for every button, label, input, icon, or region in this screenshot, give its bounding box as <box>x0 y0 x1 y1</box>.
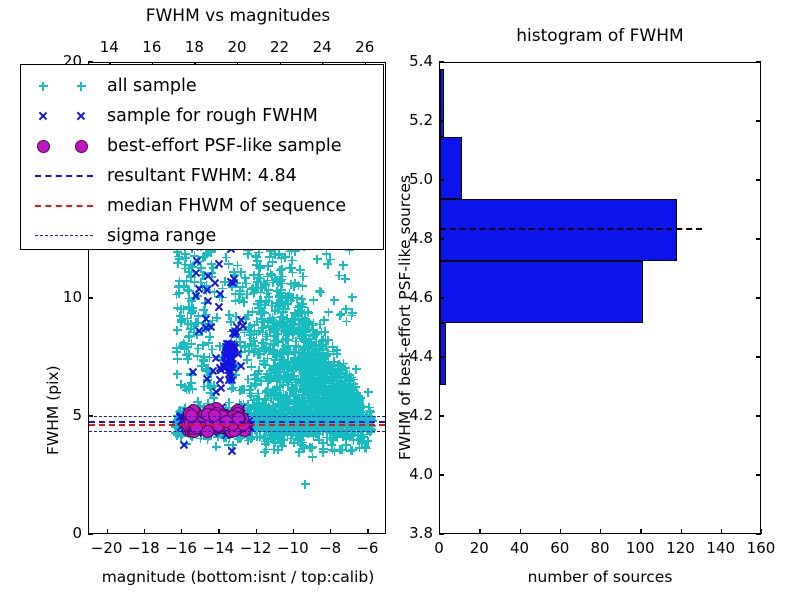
scatter-marker <box>288 256 297 265</box>
scatter-marker <box>348 293 357 302</box>
scatter-marker <box>320 410 329 419</box>
scatter-marker <box>203 271 212 280</box>
scatter-marker <box>275 292 284 301</box>
scatter-marker <box>285 363 294 372</box>
scatter-marker <box>312 395 321 404</box>
scatter-marker <box>305 407 314 416</box>
scatter-marker <box>295 405 304 414</box>
tick-label: 22 <box>264 40 296 55</box>
scatter-marker <box>269 392 278 401</box>
scatter-marker <box>300 360 309 369</box>
legend-item[interactable]: sigma range <box>21 221 383 251</box>
scatter-marker <box>225 348 234 357</box>
scatter-marker <box>259 433 268 442</box>
scatter-marker <box>180 344 189 353</box>
scatter-marker <box>337 410 346 419</box>
scatter-marker <box>281 342 290 351</box>
scatter-marker <box>324 392 333 401</box>
scatter-marker <box>258 307 267 316</box>
scatter-marker <box>191 407 200 416</box>
scatter-marker <box>244 310 253 319</box>
scatter-marker <box>279 314 288 323</box>
scatter-marker <box>181 250 190 259</box>
scatter-marker <box>261 440 270 449</box>
scatter-marker <box>328 405 337 414</box>
scatter-marker <box>333 406 342 415</box>
scatter-marker <box>302 342 311 351</box>
scatter-marker <box>272 390 281 399</box>
scatter-marker <box>238 385 247 394</box>
scatter-marker <box>298 375 307 384</box>
scatter-marker <box>305 339 314 348</box>
scatter-marker <box>198 283 207 292</box>
scatter-marker <box>235 286 244 295</box>
scatter-marker <box>356 430 365 439</box>
scatter-marker <box>185 350 194 359</box>
scatter-marker <box>246 410 255 419</box>
scatter-marker <box>304 385 313 394</box>
scatter-marker <box>306 396 315 405</box>
scatter-marker <box>311 425 320 434</box>
histogram-bar[interactable] <box>440 323 446 385</box>
scatter-marker <box>306 381 315 390</box>
scatter-marker <box>310 367 319 376</box>
scatter-marker <box>316 402 325 411</box>
scatter-marker <box>298 405 307 414</box>
scatter-marker <box>251 345 260 354</box>
scatter-marker <box>284 359 293 368</box>
histogram-bar[interactable] <box>440 137 462 199</box>
scatter-marker <box>260 395 269 404</box>
scatter-marker <box>276 374 285 383</box>
scatter-marker <box>337 405 346 414</box>
scatter-marker <box>228 363 237 372</box>
scatter-marker <box>283 335 292 344</box>
scatter-marker <box>257 284 266 293</box>
scatter-marker <box>244 404 253 413</box>
scatter-marker <box>313 379 322 388</box>
scatter-marker <box>260 308 269 317</box>
scatter-marker <box>333 407 342 416</box>
scatter-marker <box>306 338 315 347</box>
scatter-marker <box>254 399 263 408</box>
scatter-marker <box>284 397 293 406</box>
scatter-marker <box>269 435 278 444</box>
scatter-marker <box>188 407 197 416</box>
scatter-marker <box>236 287 245 296</box>
scatter-marker <box>230 330 239 339</box>
scatter-marker <box>336 311 345 320</box>
scatter-marker <box>237 347 246 356</box>
scatter-marker <box>334 396 343 405</box>
scatter-marker <box>313 383 322 392</box>
scatter-marker <box>215 303 224 312</box>
scatter-marker <box>365 403 374 412</box>
scatter-marker <box>231 361 240 370</box>
scatter-marker <box>349 391 358 400</box>
scatter-marker <box>349 394 358 403</box>
scatter-marker <box>342 440 351 449</box>
scatter-marker <box>298 410 307 419</box>
legend-item[interactable]: median FHWM of sequence <box>21 191 383 221</box>
scatter-marker <box>249 401 258 410</box>
scatter-marker <box>308 364 317 373</box>
scatter-marker <box>249 288 258 297</box>
scatter-marker <box>290 356 299 365</box>
scatter-marker <box>297 441 306 450</box>
scatter-marker <box>322 342 331 351</box>
scatter-marker <box>297 352 306 361</box>
scatter-marker <box>336 391 345 400</box>
scatter-marker <box>334 427 343 436</box>
scatter-marker <box>314 407 323 416</box>
scatter-marker <box>185 385 194 394</box>
scatter-marker <box>356 407 365 416</box>
scatter-marker <box>321 402 330 411</box>
tick-label: 100 <box>618 541 662 556</box>
histogram-bar[interactable] <box>440 69 444 137</box>
scatter-marker <box>262 345 271 354</box>
scatter-marker <box>182 407 191 416</box>
scatter-marker <box>264 386 273 395</box>
scatter-marker <box>192 269 201 278</box>
legend-item[interactable]: all sample <box>21 71 383 101</box>
scatter-marker <box>323 406 332 415</box>
scatter-marker <box>309 319 318 328</box>
scatter-marker <box>254 273 263 282</box>
scatter-marker <box>355 400 364 409</box>
scatter-marker <box>213 432 222 441</box>
scatter-marker <box>272 377 281 386</box>
scatter-marker <box>339 383 348 392</box>
scatter-marker <box>327 393 336 402</box>
scatter-marker <box>310 410 319 419</box>
scatter-marker <box>269 406 278 415</box>
scatter-marker <box>351 398 360 407</box>
scatter-marker <box>264 262 273 271</box>
scatter-marker <box>263 289 272 298</box>
legend-box[interactable]: all samplesample for rough FWHMbest-effo… <box>20 64 384 250</box>
scatter-marker <box>354 405 363 414</box>
scatter-marker <box>366 427 375 436</box>
scatter-marker <box>278 318 287 327</box>
scatter-marker <box>282 365 291 374</box>
tick-mark <box>756 120 761 121</box>
scatter-marker <box>213 404 222 413</box>
scatter-marker <box>340 403 349 412</box>
scatter-marker <box>276 438 285 447</box>
scatter-marker <box>177 318 186 327</box>
scatter-marker <box>227 350 236 359</box>
scatter-marker <box>290 371 299 380</box>
scatter-marker <box>317 374 326 383</box>
scatter-marker <box>305 369 314 378</box>
scatter-marker <box>321 336 330 345</box>
scatter-marker <box>311 411 320 420</box>
scatter-marker <box>206 321 215 330</box>
scatter-marker <box>339 432 348 441</box>
scatter-marker <box>310 345 319 354</box>
scatter-marker <box>188 304 197 313</box>
scatter-marker <box>351 392 360 401</box>
scatter-marker <box>299 388 308 397</box>
scatter-marker <box>291 279 300 288</box>
scatter-marker <box>228 360 237 369</box>
scatter-marker <box>231 410 240 419</box>
scatter-marker <box>319 445 328 454</box>
scatter-marker <box>336 402 345 411</box>
scatter-marker <box>282 410 291 419</box>
scatter-marker <box>318 336 327 345</box>
scatter-marker <box>238 282 247 291</box>
scatter-marker <box>315 346 324 355</box>
scatter-marker <box>277 358 286 367</box>
scatter-marker <box>191 425 200 434</box>
scatter-marker <box>203 410 212 419</box>
scatter-marker <box>355 394 364 403</box>
legend-item[interactable]: resultant FWHM: 4.84 <box>21 161 383 191</box>
scatter-marker <box>330 357 339 366</box>
scatter-marker <box>200 252 209 261</box>
scatter-marker <box>340 384 349 393</box>
scatter-marker <box>329 435 338 444</box>
scatter-marker <box>276 433 285 442</box>
tick-mark <box>756 356 761 357</box>
scatter-marker <box>204 399 213 408</box>
scatter-marker <box>200 282 209 291</box>
scatter-marker <box>328 387 337 396</box>
scatter-marker <box>289 438 298 447</box>
scatter-marker <box>331 406 340 415</box>
scatter-marker <box>313 410 322 419</box>
scatter-marker <box>337 373 346 382</box>
tick-label: 26 <box>349 40 381 55</box>
scatter-marker <box>355 408 364 417</box>
scatter-marker <box>338 397 347 406</box>
tick-label: 24 <box>306 40 338 55</box>
tick-mark <box>439 61 444 62</box>
scatter-marker <box>258 400 267 409</box>
scatter-marker <box>210 402 223 415</box>
scatter-marker <box>328 407 337 416</box>
scatter-marker <box>342 434 351 443</box>
scatter-marker <box>263 405 272 414</box>
scatter-marker <box>269 319 278 328</box>
scatter-marker <box>348 446 357 455</box>
scatter-marker <box>258 328 267 337</box>
scatter-marker <box>351 406 360 415</box>
scatter-marker <box>241 343 250 352</box>
scatter-marker <box>232 312 241 321</box>
scatter-marker <box>251 380 260 389</box>
scatter-marker <box>346 446 355 455</box>
scatter-marker <box>280 356 289 365</box>
scatter-marker <box>275 300 284 309</box>
scatter-marker <box>321 395 330 404</box>
scatter-marker <box>332 394 341 403</box>
scatter-marker <box>314 375 323 384</box>
scatter-marker <box>229 341 238 350</box>
scatter-marker <box>299 387 308 396</box>
scatter-marker <box>282 347 291 356</box>
tick-label: 120 <box>659 541 703 556</box>
scatter-marker <box>278 403 287 412</box>
histogram-bar[interactable] <box>440 261 643 323</box>
scatter-marker <box>333 396 342 405</box>
scatter-marker <box>351 404 360 413</box>
scatter-marker <box>221 352 230 361</box>
scatter-marker <box>222 343 231 352</box>
scatter-marker <box>256 288 265 297</box>
scatter-marker <box>269 331 278 340</box>
scatter-marker <box>184 350 193 359</box>
scatter-marker <box>267 301 276 310</box>
scatter-marker <box>325 361 334 370</box>
scatter-marker <box>231 407 240 416</box>
scatter-marker <box>274 435 283 444</box>
scatter-marker <box>297 396 306 405</box>
scatter-marker <box>349 399 358 408</box>
scatter-marker <box>308 331 317 340</box>
scatter-marker <box>345 393 354 402</box>
scatter-marker <box>310 362 319 371</box>
scatter-marker <box>354 391 363 400</box>
scatter-marker <box>249 271 258 280</box>
scatter-marker <box>216 290 225 299</box>
scatter-marker <box>345 403 354 412</box>
scatter-marker <box>324 393 333 402</box>
scatter-marker <box>290 358 299 367</box>
scatter-marker <box>233 406 242 415</box>
scatter-marker <box>256 310 265 319</box>
scatter-marker <box>181 264 190 273</box>
scatter-marker <box>313 370 322 379</box>
scatter-marker <box>261 407 270 416</box>
scatter-marker <box>300 336 309 345</box>
scatter-marker <box>340 388 349 397</box>
legend-item[interactable]: sample for rough FWHM <box>21 101 383 131</box>
scatter-marker <box>355 399 364 408</box>
histogram-plot-area[interactable] <box>439 62 761 534</box>
scatter-marker <box>328 401 337 410</box>
scatter-marker <box>282 424 291 433</box>
legend-item[interactable]: best-effort PSF-like sample <box>21 131 383 161</box>
scatter-marker <box>338 386 347 395</box>
scatter-marker <box>297 396 306 405</box>
scatter-marker <box>294 376 303 385</box>
scatter-marker <box>187 273 196 282</box>
scatter-marker <box>268 365 277 374</box>
scatter-marker <box>220 277 229 286</box>
scatter-marker <box>207 260 216 269</box>
scatter-marker <box>205 353 214 362</box>
scatter-marker <box>194 284 203 293</box>
scatter-marker <box>330 430 339 439</box>
scatter-marker <box>324 365 333 374</box>
scatter-marker <box>312 379 321 388</box>
scatter-marker <box>343 406 352 415</box>
scatter-marker <box>345 394 354 403</box>
scatter-marker <box>307 411 316 420</box>
scatter-marker <box>319 355 328 364</box>
scatter-marker <box>203 285 212 294</box>
scatter-marker <box>258 339 267 348</box>
scatter-marker <box>259 347 268 356</box>
scatter-marker <box>209 381 218 390</box>
scatter-marker <box>272 369 281 378</box>
scatter-marker <box>323 400 332 409</box>
tick-mark <box>218 529 219 534</box>
scatter-marker <box>193 257 202 266</box>
tick-label: 5.2 <box>395 113 433 128</box>
scatter-marker <box>354 395 363 404</box>
scatter-marker <box>301 331 310 340</box>
scatter-marker <box>264 389 273 398</box>
scatter-marker <box>353 403 362 412</box>
scatter-marker <box>332 391 341 400</box>
scatter-marker <box>315 370 324 379</box>
scatter-marker <box>207 268 216 277</box>
scatter-marker <box>231 341 240 350</box>
scatter-marker <box>321 411 330 420</box>
scatter-marker <box>281 335 290 344</box>
scatter-marker <box>336 391 345 400</box>
tick-label: 5 <box>54 408 82 423</box>
scatter-marker <box>229 268 238 277</box>
scatter-marker <box>176 305 185 314</box>
scatter-marker <box>286 296 295 305</box>
scatter-marker <box>333 403 342 412</box>
scatter-marker <box>314 378 323 387</box>
scatter-marker <box>345 403 354 412</box>
scatter-marker <box>329 396 338 405</box>
scatter-marker <box>276 266 285 275</box>
scatter-marker <box>227 359 236 368</box>
scatter-marker <box>263 374 272 383</box>
scatter-marker <box>297 375 306 384</box>
scatter-reference-line-1 <box>89 424 385 426</box>
scatter-marker <box>201 425 214 438</box>
scatter-marker <box>310 359 319 368</box>
scatter-marker <box>243 290 252 299</box>
legend-item-label: median FHWM of sequence <box>107 191 346 221</box>
scatter-marker <box>229 410 238 419</box>
scatter-marker <box>240 326 249 335</box>
scatter-marker <box>211 405 220 414</box>
scatter-marker <box>350 404 359 413</box>
scatter-marker <box>270 410 279 419</box>
scatter-marker <box>343 393 352 402</box>
scatter-marker <box>224 441 233 450</box>
scatter-marker <box>263 377 272 386</box>
scatter-marker <box>182 342 191 351</box>
scatter-marker <box>196 427 205 436</box>
legend-item-label: all sample <box>107 71 197 101</box>
scatter-marker <box>308 425 317 434</box>
scatter-marker <box>280 410 289 419</box>
scatter-marker <box>328 398 337 407</box>
scatter-marker <box>341 384 350 393</box>
scatter-marker <box>303 351 312 360</box>
scatter-marker <box>328 399 337 408</box>
tick-label: 3.8 <box>395 526 433 541</box>
scatter-marker <box>254 304 263 313</box>
tick-mark <box>439 238 444 239</box>
scatter-marker <box>293 399 302 408</box>
scatter-marker <box>345 370 354 379</box>
scatter-marker <box>292 385 301 394</box>
scatter-marker <box>264 321 273 330</box>
